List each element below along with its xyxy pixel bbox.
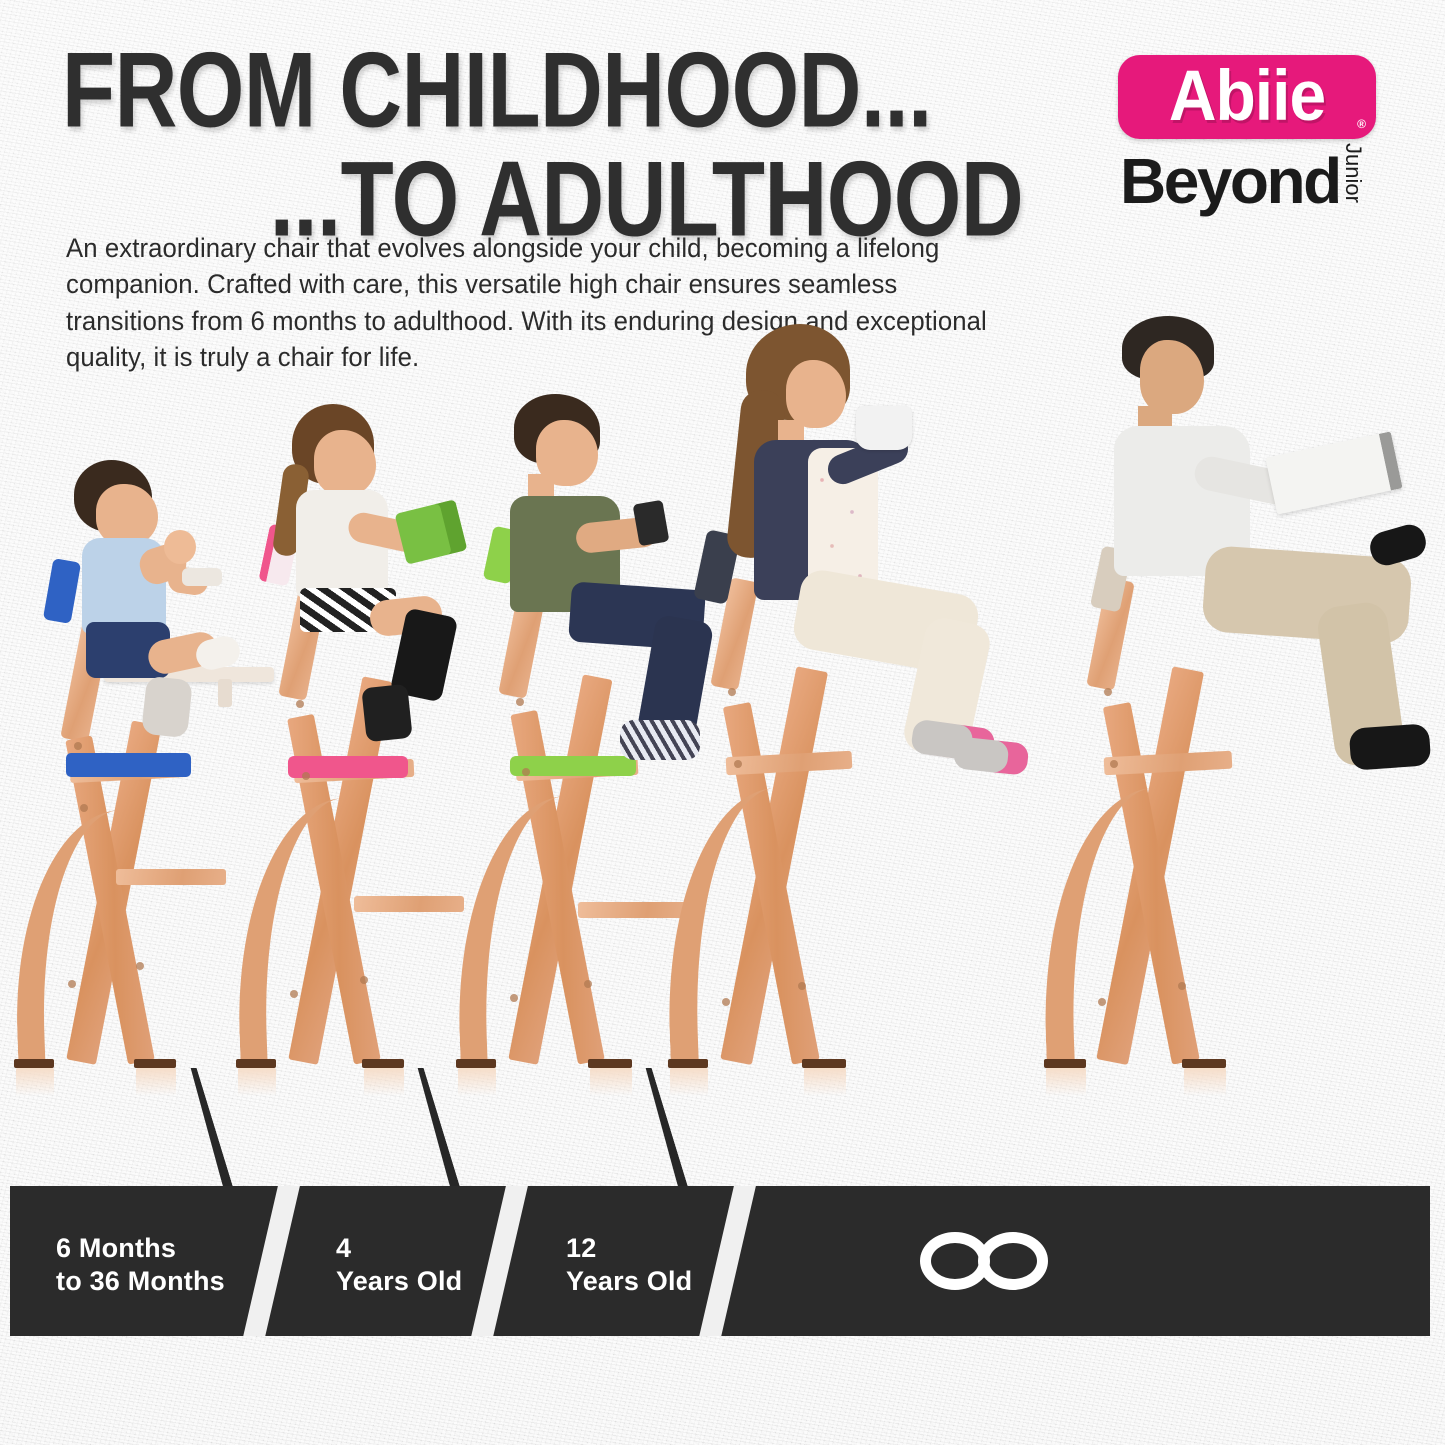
brand-name: Abiie bbox=[1169, 59, 1325, 130]
magazine bbox=[1265, 431, 1402, 514]
product-qualifier: Junior bbox=[1340, 143, 1366, 203]
person-boy bbox=[470, 390, 720, 782]
segment-12-years: 12 Years Old bbox=[566, 1232, 692, 1298]
infographic-canvas: FROM CHILDHOOD... ...TO ADULTHOOD An ext… bbox=[0, 0, 1445, 1445]
banner-divider-2 bbox=[468, 1186, 530, 1336]
abiie-badge: Abiie ® bbox=[1118, 55, 1376, 139]
person-woman bbox=[700, 320, 1030, 775]
person-man bbox=[1074, 314, 1444, 774]
stage-figure-toddler bbox=[8, 455, 258, 1080]
segment-line-2: to 36 Months bbox=[56, 1266, 225, 1296]
age-range-banner: 6 Months to 36 Months 4 Years Old 12 Yea… bbox=[10, 1186, 1430, 1336]
connector-line-2 bbox=[414, 1068, 461, 1188]
page-title: FROM CHILDHOOD... ...TO ADULTHOOD bbox=[62, 46, 1072, 225]
growth-stage-illustration bbox=[0, 430, 1445, 1080]
coffee-mug bbox=[856, 406, 912, 450]
product-name: Beyond bbox=[1120, 149, 1340, 213]
registered-trademark-icon: ® bbox=[1357, 117, 1366, 131]
brand-logo: Abiie ® Beyond Junior bbox=[1118, 55, 1418, 221]
stage-figure-woman bbox=[690, 320, 1030, 1080]
headline-line-1: FROM CHILDHOOD... bbox=[62, 46, 1133, 138]
person-toddler bbox=[36, 450, 236, 780]
segment-6-36-months: 6 Months to 36 Months bbox=[56, 1232, 225, 1298]
product-line-wrap: Beyond Junior bbox=[1118, 149, 1418, 221]
stage-figure-man bbox=[1030, 320, 1440, 1080]
segment-line-1: 12 bbox=[566, 1233, 596, 1263]
segment-line-2: Years Old bbox=[566, 1266, 692, 1296]
segment-line-1: 6 Months bbox=[56, 1233, 176, 1263]
phone-icon bbox=[633, 500, 670, 547]
segment-line-1: 4 bbox=[336, 1233, 351, 1263]
stage-figure-girl bbox=[232, 395, 482, 1080]
segment-4-years: 4 Years Old bbox=[336, 1232, 462, 1298]
banner-divider-1 bbox=[240, 1186, 302, 1336]
segment-line-2: Years Old bbox=[336, 1266, 462, 1296]
infinity-icon bbox=[920, 1232, 1048, 1290]
person-girl bbox=[252, 398, 462, 788]
banner-divider-3 bbox=[696, 1186, 758, 1336]
connector-line-1 bbox=[187, 1068, 234, 1188]
